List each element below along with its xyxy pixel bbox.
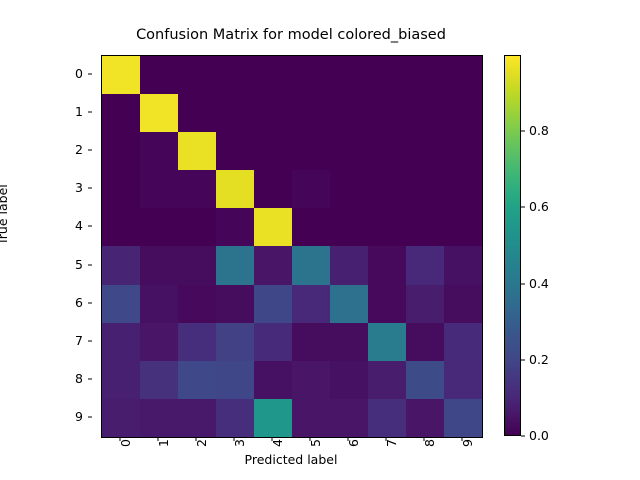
heatmap-cell [178,170,216,208]
y-tick-label: 9 [75,411,83,424]
y-tick-label: 1 [75,106,83,119]
heatmap-cell [140,246,178,284]
heatmap-cell [140,208,178,246]
heatmap-cell [444,56,482,94]
matplotlib-figure: Confusion Matrix for model colored_biase… [0,0,640,480]
x-tick-label: 1 [158,439,171,447]
y-tick-mark [88,74,92,75]
y-tick-label: 5 [75,258,83,271]
heatmap-cell [216,361,254,399]
x-tick-label: 4 [272,439,285,447]
heatmap-cell [444,285,482,323]
heatmap-cell [254,170,292,208]
y-tick-mark [88,226,92,227]
x-tick-label: 7 [386,439,399,447]
heatmap-cell [178,361,216,399]
heatmap-cell [292,56,330,94]
heatmap-cell [102,285,140,323]
x-tick-label: 0 [120,439,133,447]
heatmap-cell [292,170,330,208]
x-tick-label: 9 [462,439,475,447]
heatmap-cell [368,208,406,246]
heatmap-cell [140,132,178,170]
heatmap-cell [330,170,368,208]
y-tick-mark [88,302,92,303]
colorbar-tick-mark [521,436,525,437]
heatmap-cell [444,323,482,361]
heatmap-cell [178,94,216,132]
y-tick-mark [88,340,92,341]
heatmap-cell [292,361,330,399]
y-tick-label: 6 [75,296,83,309]
heatmap-cell [292,399,330,437]
y-tick-mark [88,112,92,113]
heatmap-cell [406,323,444,361]
heatmap-cell [406,94,444,132]
y-tick-label: 2 [75,144,83,157]
heatmap-cell [140,399,178,437]
y-tick-mark [88,188,92,189]
heatmap-cell [254,285,292,323]
heatmap-cell [178,132,216,170]
heatmap-cell [292,285,330,323]
y-tick-label: 4 [75,220,83,233]
heatmap-cell [330,323,368,361]
heatmap-cell [406,361,444,399]
heatmap-cell [330,399,368,437]
heatmap-cell [444,208,482,246]
heatmap-cell [140,170,178,208]
heatmap-cell [178,246,216,284]
heatmap-cell [292,246,330,284]
heatmap-cell [292,208,330,246]
heatmap-grid [102,56,482,437]
heatmap-cell [254,323,292,361]
heatmap-cell [178,399,216,437]
y-tick-label: 0 [75,68,83,81]
colorbar-tick-label: 0.6 [529,201,549,214]
heatmap-cell [254,56,292,94]
heatmap-cell [330,208,368,246]
heatmap-cell [102,246,140,284]
heatmap-cell [216,170,254,208]
heatmap-cell [102,56,140,94]
x-tick-label: 8 [424,439,437,447]
colorbar-gradient [504,55,521,436]
heatmap-cell [216,323,254,361]
heatmap-cell [368,361,406,399]
y-tick-label: 8 [75,373,83,386]
heatmap-cell [216,285,254,323]
heatmap-cell [406,132,444,170]
heatmap-cell [102,94,140,132]
heatmap-cell [254,246,292,284]
y-axis-label: True label [0,184,10,245]
heatmap-cell [444,361,482,399]
heatmap-cell [368,285,406,323]
heatmap-cell [216,399,254,437]
y-axis-ticks: 0123456789 [60,55,92,436]
heatmap-cell [102,323,140,361]
heatmap-cell [406,399,444,437]
heatmap-cell [178,56,216,94]
heatmap-cell [330,361,368,399]
heatmap-cell [330,285,368,323]
heatmap-cell [254,361,292,399]
y-tick-label: 3 [75,182,83,195]
y-tick-mark [88,150,92,151]
heatmap-cell [254,399,292,437]
heatmap-cell [444,170,482,208]
heatmap-cell [216,94,254,132]
heatmap-cell [368,94,406,132]
heatmap-cell [216,56,254,94]
y-tick-mark [88,264,92,265]
heatmap-cell [444,94,482,132]
heatmap-cell [368,132,406,170]
y-tick-mark [88,416,92,417]
heatmap-cell [444,399,482,437]
heatmap-cell [292,94,330,132]
heatmap-cell [330,246,368,284]
colorbar-tick-label: 0.8 [529,125,549,138]
heatmap-cell [330,56,368,94]
colorbar-tick-label: 0.4 [529,277,549,290]
y-tick-label: 7 [75,335,83,348]
x-tick-label: 2 [196,439,209,447]
x-axis-label: Predicted label [101,452,481,467]
colorbar-tick-mark [521,207,525,208]
heatmap-cell [102,399,140,437]
x-tick-label: 6 [348,439,361,447]
heatmap-cell [216,246,254,284]
heatmap-cell [140,94,178,132]
confusion-matrix-axes [101,55,483,438]
heatmap-cell [406,208,444,246]
colorbar-tick-mark [521,359,525,360]
heatmap-cell [254,94,292,132]
colorbar: 0.00.20.40.60.8 [504,55,521,436]
page-title: Confusion Matrix for model colored_biase… [101,27,481,43]
x-tick-label: 5 [310,439,323,447]
heatmap-cell [178,323,216,361]
y-tick-mark [88,378,92,379]
heatmap-cell [140,361,178,399]
heatmap-cell [216,208,254,246]
heatmap-cell [292,132,330,170]
colorbar-tick-mark [521,131,525,132]
heatmap-cell [406,285,444,323]
colorbar-tick-label: 0.2 [529,354,549,367]
heatmap-cell [254,208,292,246]
heatmap-cell [102,132,140,170]
heatmap-cell [368,56,406,94]
heatmap-cell [444,246,482,284]
heatmap-cell [140,285,178,323]
heatmap-cell [140,323,178,361]
heatmap-cell [330,94,368,132]
heatmap-cell [406,56,444,94]
heatmap-cell [140,56,178,94]
heatmap-cell [178,285,216,323]
heatmap-cell [330,132,368,170]
colorbar-tick-label: 0.0 [529,430,549,443]
heatmap-cell [216,132,254,170]
heatmap-cell [368,246,406,284]
heatmap-cell [102,170,140,208]
heatmap-cell [368,170,406,208]
heatmap-cell [368,399,406,437]
x-tick-label: 3 [234,439,247,447]
heatmap-cell [292,323,330,361]
heatmap-cell [102,208,140,246]
heatmap-cell [406,246,444,284]
heatmap-cell [254,132,292,170]
heatmap-cell [444,132,482,170]
heatmap-cell [368,323,406,361]
heatmap-cell [178,208,216,246]
heatmap-cell [406,170,444,208]
colorbar-tick-mark [521,283,525,284]
heatmap-cell [102,361,140,399]
